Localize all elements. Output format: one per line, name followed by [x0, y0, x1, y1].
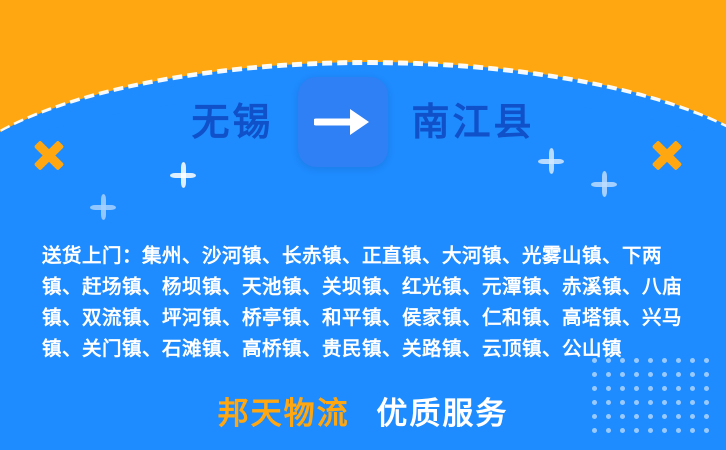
tagline: 优质服务: [376, 396, 508, 432]
brand-name: 邦天物流: [218, 396, 350, 432]
logistics-route-banner: 无锡 南江县 送货上门：集州、沙河镇、长赤镇、正直镇、大河镇、光雾山镇、下两镇、…: [0, 0, 726, 450]
star-sparkle-icon-4: [96, 200, 110, 214]
coverage-area-text: 送货上门：集州、沙河镇、长赤镇、正直镇、大河镇、光雾山镇、下两镇、赶场镇、杨坝镇…: [42, 240, 690, 364]
origin-city-label: 无锡: [191, 103, 273, 141]
slogan: 邦天物流 优质服务: [0, 388, 726, 433]
arrow-right-icon: [298, 77, 388, 167]
destination-city-label: 南江县: [412, 103, 535, 141]
route-headline: 无锡 南江县: [0, 72, 726, 172]
star-sparkle-icon-3: [596, 176, 612, 192]
